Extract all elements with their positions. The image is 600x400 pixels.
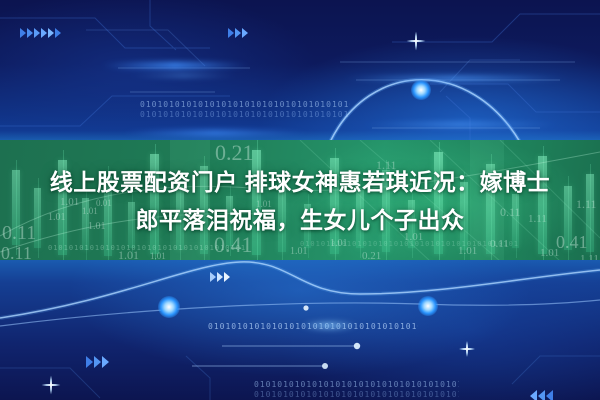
banner-image: 01010101010101010101010101010101010101 0… bbox=[0, 0, 600, 400]
bottom-tech-background: 0101010101010101010101010101010101010101… bbox=[0, 260, 600, 400]
bottom-curve-lines bbox=[0, 260, 600, 400]
top-tech-background: 01010101010101010101010101010101010101 0… bbox=[0, 0, 600, 142]
title-line-1: 线上股票配资门户 排球女神惠若琪近况：嫁博士 bbox=[50, 164, 550, 200]
top-circuit-lines bbox=[0, 0, 600, 142]
banner-title: 线上股票配资门户 排球女神惠若琪近况：嫁博士 郎平落泪祝福，生女儿个子出众 bbox=[0, 140, 600, 261]
title-line-2: 郎平落泪祝福，生女儿个子出众 bbox=[136, 202, 465, 238]
